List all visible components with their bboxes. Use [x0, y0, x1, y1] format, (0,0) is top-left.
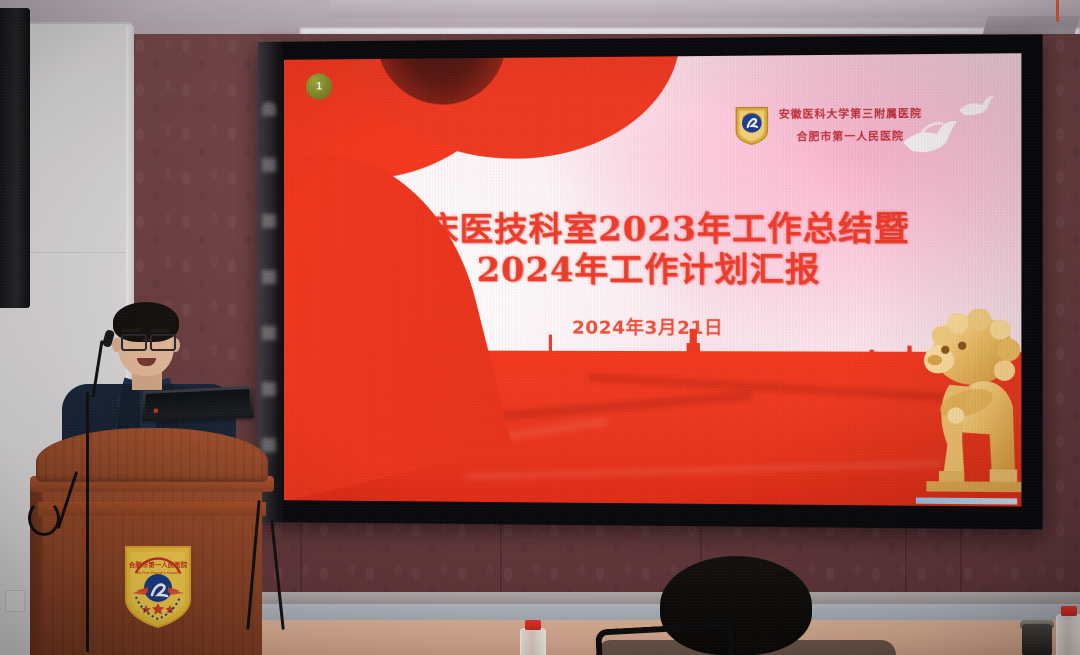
water-bottle-icon[interactable] — [520, 628, 546, 655]
bottle-cap — [1061, 606, 1077, 616]
slide-canvas: 1 安徽医科大学第三附属医院 — [284, 53, 1021, 506]
hospital-name-secondary: 合肥市第一人民医院 — [779, 128, 922, 144]
podium-top — [36, 428, 268, 482]
hospital-name-primary: 安徽医科大学第三附属医院 — [779, 105, 922, 121]
thermos-icon[interactable] — [1022, 624, 1052, 655]
eyebrow-right — [151, 329, 170, 332]
led-display-screen[interactable]: 1 安徽医科大学第三附属医院 — [258, 34, 1043, 529]
ear-left — [112, 338, 121, 352]
wood-grain — [36, 428, 268, 482]
laptop-screen — [145, 389, 251, 415]
wall-seam — [300, 522, 302, 602]
power-outlet-icon — [5, 590, 25, 612]
slide-number-label: 1 — [316, 80, 322, 92]
eyebrow-left — [122, 329, 141, 332]
bottle-cap — [525, 620, 541, 630]
wall-seam — [905, 522, 907, 602]
podium-band — [38, 502, 266, 516]
ceiling-vent — [982, 16, 1080, 36]
wall-seam — [500, 522, 502, 602]
wall-seam — [22, 252, 132, 253]
hospital-logo-block: 安徽医科大学第三附属医院 合肥市第一人民医院 — [734, 103, 922, 145]
cable-loop — [28, 500, 60, 536]
glasses-bridge — [143, 339, 150, 341]
ceiling-strip — [330, 0, 1080, 18]
laptop-icon[interactable] — [142, 386, 254, 421]
wall-speaker — [0, 8, 30, 308]
conference-room-photo: 1 安徽医科大学第三附属医院 — [0, 0, 1080, 655]
hospital-names: 安徽医科大学第三附属医院 合肥市第一人民医院 — [779, 105, 922, 144]
microphone-cable — [86, 392, 89, 652]
golden-guardian-lion-statue — [903, 309, 1021, 493]
hospital-crest-icon — [734, 104, 769, 145]
screen-bottom-sliver — [916, 498, 1017, 505]
red-cable-icon — [1056, 0, 1059, 22]
podium: 合肥市第一人民医院 The First People's Hospital — [30, 418, 270, 655]
speaker-brand-label — [3, 278, 27, 286]
glasses-icon — [150, 334, 176, 351]
glasses-icon — [121, 334, 147, 351]
water-bottle-icon[interactable] — [1056, 614, 1080, 655]
hospital-crest-icon: 合肥市第一人民医院 The First People's Hospital — [122, 543, 194, 629]
slide-number-badge[interactable]: 1 — [306, 73, 332, 99]
svg-text:合肥市第一人民医院: 合肥市第一人民医院 — [128, 560, 188, 569]
white-dove-icon — [957, 93, 995, 120]
